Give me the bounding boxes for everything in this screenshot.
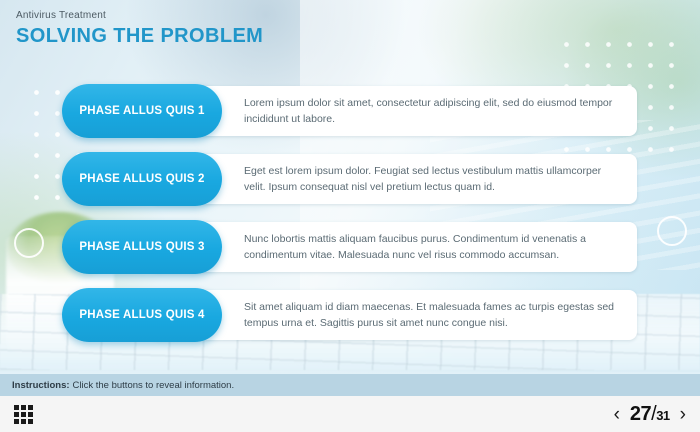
chevron-left-icon[interactable]: ‹ [614,405,620,424]
instructions-bar: Instructions: Click the buttons to revea… [0,374,700,396]
phase-button-2[interactable]: PHASE ALLUS QUIS 2 [62,152,222,206]
slide-header: Antivirus Treatment SOLVING THE PROBLEM [16,10,263,48]
instructions-text: Click the buttons to reveal information. [73,380,235,391]
grid-cell [14,405,19,410]
course-subtitle: Antivirus Treatment [16,10,263,21]
grid-cell [28,412,33,417]
grid-cell [14,419,19,424]
chevron-right-icon[interactable]: › [680,405,686,424]
grid-cell [21,405,26,410]
grid-menu-icon[interactable] [14,405,33,424]
panel-body-text: Nunc lobortis mattis aliquam faucibus pu… [244,231,623,264]
panel-body-text: Lorem ipsum dolor sit amet, consectetur … [244,95,623,128]
pager: ‹ 27/31 › [614,403,686,426]
phase-button-1[interactable]: PHASE ALLUS QUIS 1 [62,84,222,138]
navigation-bar: ‹ 27/31 › [0,396,700,432]
panel-body-text: Eget est lorem ipsum dolor. Feugiat sed … [244,163,623,196]
phase-button-3[interactable]: PHASE ALLUS QUIS 3 [62,220,222,274]
content-panel: Sit amet aliquam id diam maecenas. Et ma… [150,290,637,340]
phase-button-4[interactable]: PHASE ALLUS QUIS 4 [62,288,222,342]
grid-cell [21,412,26,417]
content-panel: Eget est lorem ipsum dolor. Feugiat sed … [150,154,637,204]
slide-canvas: Antivirus Treatment SOLVING THE PROBLEM … [0,0,700,432]
page-indicator: 27/31 [630,403,670,426]
grid-cell [28,419,33,424]
accordion-row: Sit amet aliquam id diam maecenas. Et ma… [0,288,700,354]
accordion-list: Lorem ipsum dolor sit amet, consectetur … [0,84,700,356]
instructions-label: Instructions: [12,380,70,391]
accordion-row: Nunc lobortis mattis aliquam faucibus pu… [0,220,700,286]
accordion-row: Eget est lorem ipsum dolor. Feugiat sed … [0,152,700,218]
grid-cell [28,405,33,410]
grid-cell [21,419,26,424]
content-panel: Nunc lobortis mattis aliquam faucibus pu… [150,222,637,272]
content-panel: Lorem ipsum dolor sit amet, consectetur … [150,86,637,136]
accordion-row: Lorem ipsum dolor sit amet, consectetur … [0,84,700,150]
total-page-number: 31 [656,408,669,423]
panel-body-text: Sit amet aliquam id diam maecenas. Et ma… [244,299,623,332]
grid-cell [14,412,19,417]
page-title: SOLVING THE PROBLEM [16,25,263,48]
current-page-number: 27 [630,403,651,425]
